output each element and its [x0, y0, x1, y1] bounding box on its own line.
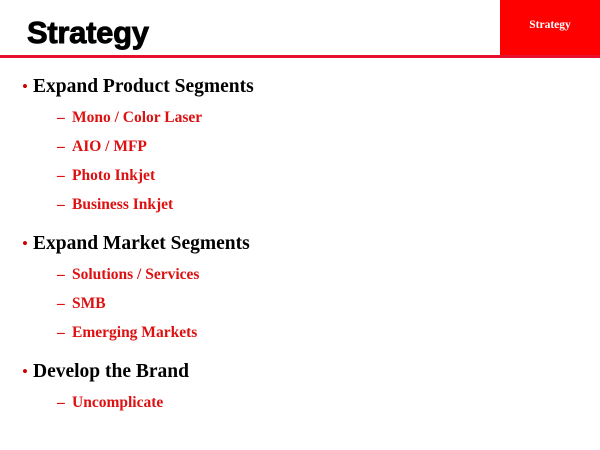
bullet-group: • Expand Product Segments – Mono / Color… [0, 75, 600, 215]
main-bullet-label: Expand Product Segments [33, 75, 254, 99]
page-title: Strategy [27, 16, 149, 50]
bullet-dash-icon: – [57, 393, 72, 413]
bullet-dash-icon: – [57, 265, 72, 285]
sub-bullet-label: Photo Inkjet [72, 166, 155, 186]
bullet-dash-icon: – [57, 137, 72, 157]
bullet-dash-icon: – [57, 323, 72, 343]
sub-bullet-label: AIO / MFP [72, 137, 147, 157]
bullet-dash-icon: – [57, 294, 72, 314]
sub-bullet-item: – Emerging Markets [0, 323, 600, 343]
bullet-dot-icon: • [22, 232, 33, 256]
bullet-dash-icon: – [57, 108, 72, 128]
main-bullet-label: Expand Market Segments [33, 232, 250, 256]
main-bullet-item: • Expand Market Segments [0, 232, 600, 256]
slide-canvas: Strategy Strategy • Expand Product Segme… [0, 0, 600, 450]
main-bullet-label: Develop the Brand [33, 360, 189, 384]
sub-bullet-label: Uncomplicate [72, 393, 163, 413]
sub-bullet-item: – Mono / Color Laser [0, 108, 600, 128]
bullet-dash-icon: – [57, 195, 72, 215]
sub-bullet-item: – SMB [0, 294, 600, 314]
sub-bullet-item: – Solutions / Services [0, 265, 600, 285]
sub-bullet-label: Business Inkjet [72, 195, 173, 215]
sub-bullet-label: Mono / Color Laser [72, 108, 202, 128]
slide-header: Strategy Strategy [0, 0, 600, 58]
sub-bullet-item: – Photo Inkjet [0, 166, 600, 186]
sub-bullet-item: – Business Inkjet [0, 195, 600, 215]
bullet-group: • Expand Market Segments – Solutions / S… [0, 232, 600, 343]
bullet-dot-icon: • [22, 360, 33, 384]
sub-bullet-label: Solutions / Services [72, 265, 199, 285]
sub-bullet-item: – Uncomplicate [0, 393, 600, 413]
bullet-dot-icon: • [22, 75, 33, 99]
sub-bullet-label: Emerging Markets [72, 323, 197, 343]
sub-bullet-label: SMB [72, 294, 106, 314]
bullet-group: • Develop the Brand – Uncomplicate [0, 360, 600, 413]
main-bullet-item: • Develop the Brand [0, 360, 600, 384]
main-bullet-item: • Expand Product Segments [0, 75, 600, 99]
slide-body: • Expand Product Segments – Mono / Color… [0, 58, 600, 450]
corner-section-tab-label: Strategy [500, 19, 600, 32]
sub-bullet-item: – AIO / MFP [0, 137, 600, 157]
corner-section-tab: Strategy [500, 0, 600, 56]
bullet-dash-icon: – [57, 166, 72, 186]
